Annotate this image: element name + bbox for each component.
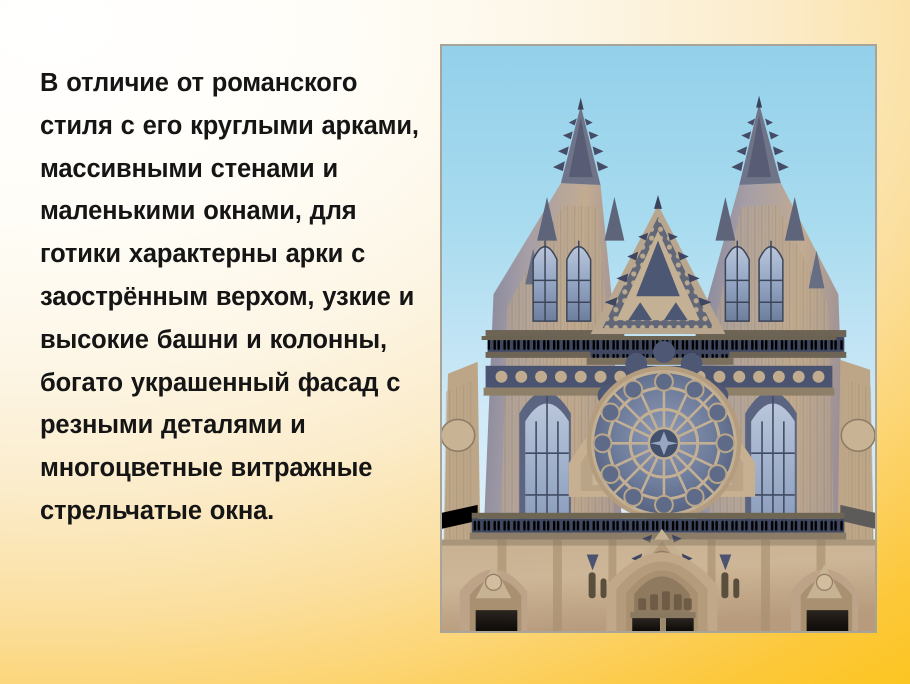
cathedral-photo-frame <box>440 44 877 633</box>
body-paragraph: В отличие от романского стиля с его круг… <box>40 62 420 533</box>
presentation-slide: В отличие от романского стиля с его круг… <box>0 0 910 684</box>
cathedral-photo <box>442 46 875 631</box>
text-column: В отличие от романского стиля с его круг… <box>40 62 420 533</box>
